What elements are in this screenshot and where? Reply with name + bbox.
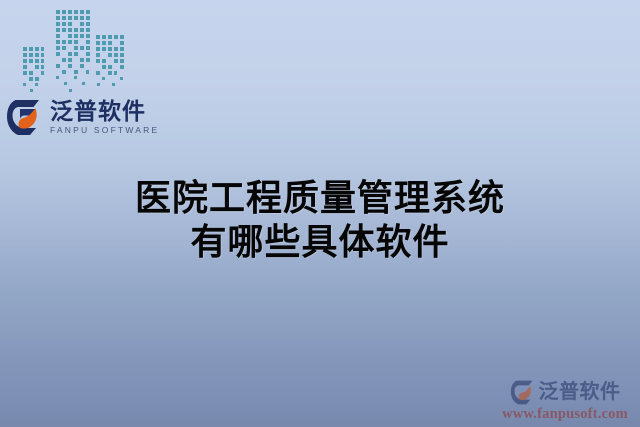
watermark-url: www.fanpusoft.com	[495, 407, 635, 423]
brand-name-cn: 泛普软件	[50, 99, 159, 123]
promo-banner: 泛普软件 FANPU SOFTWARE 医院工程质量管理系统 有哪些具体软件 泛…	[0, 0, 640, 427]
brand-logo-text: 泛普软件 FANPU SOFTWARE	[50, 99, 159, 135]
title-line-1: 医院工程质量管理系统	[0, 176, 640, 220]
page-title: 医院工程质量管理系统 有哪些具体软件	[0, 176, 640, 264]
watermark-logo-row: 泛普软件	[495, 378, 635, 406]
brand-logo: 泛普软件 FANPU SOFTWARE	[6, 96, 159, 138]
fanpu-shield-swoosh-logo-icon	[510, 380, 536, 405]
title-line-2: 有哪些具体软件	[0, 220, 640, 264]
brand-name-en: FANPU SOFTWARE	[50, 126, 159, 135]
pixel-city-skyline-icon	[22, 2, 142, 94]
watermark-brand-name: 泛普软件	[539, 382, 621, 402]
fanpu-shield-swoosh-logo-icon	[6, 99, 44, 136]
watermark: 泛普软件 www.fanpusoft.com	[495, 378, 635, 423]
